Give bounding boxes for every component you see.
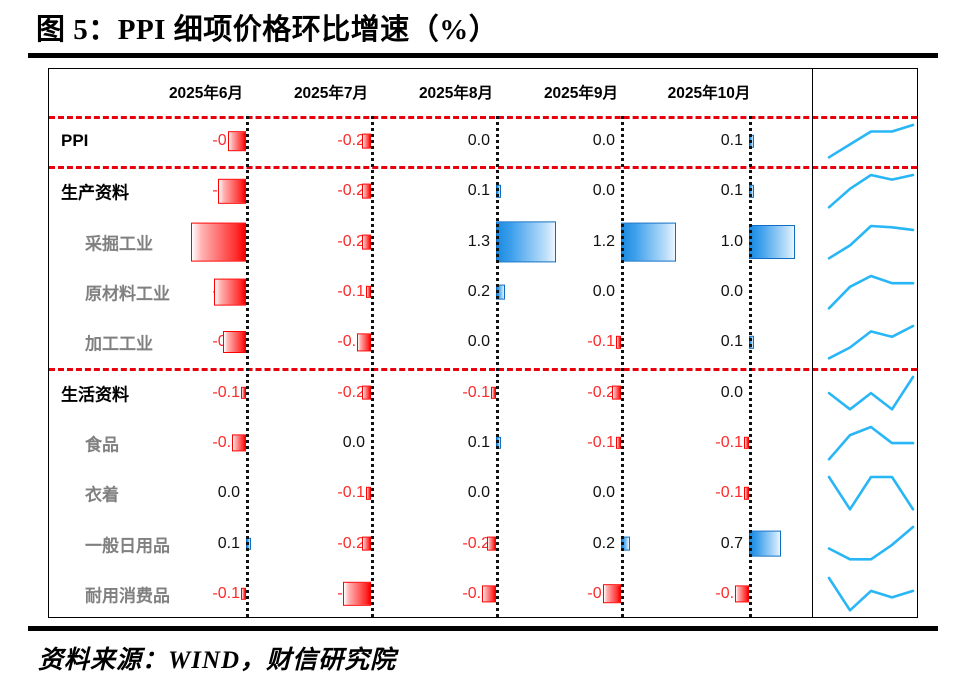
cell-value: -0.1 (669, 484, 743, 502)
cell-value: 0.0 (291, 434, 365, 452)
bar-negative (362, 234, 371, 249)
sparkline (824, 569, 918, 619)
table-row: 衣着0.0-0.10.00.0-0.1 (49, 468, 917, 518)
cell-value: 0.0 (416, 132, 490, 150)
cell-value: 1.3 (416, 233, 490, 251)
source-note: 资料来源：WIND，财信研究院 (38, 640, 396, 676)
cell-value: 0.7 (669, 535, 743, 553)
cell-value: -0.3 (291, 333, 365, 351)
zero-axis-1 (246, 116, 249, 617)
sparkline (824, 217, 918, 267)
table-row: 原材料工业-0.7-0.10.20.00.0 (49, 267, 917, 317)
table-row: 加工工业-0.5-0.30.0-0.10.1 (49, 317, 917, 367)
bar-negative (482, 585, 496, 602)
sparkline (824, 468, 918, 518)
bar-positive (749, 530, 781, 557)
table-row: 生产资料-0.6-0.20.10.00.1 (49, 166, 917, 216)
cell-value: 0.1 (669, 132, 743, 150)
zero-axis-3 (496, 116, 499, 617)
bar-negative (357, 334, 371, 351)
bar-positive (749, 225, 795, 259)
sparkline (824, 317, 918, 367)
cell-value: -0.3 (669, 585, 743, 603)
bar-negative (191, 222, 246, 261)
cell-value: -0.1 (291, 283, 365, 301)
bar-negative (343, 582, 371, 606)
table-row: 采掘工业-1.2-0.21.31.21.0 (49, 217, 917, 267)
cell-value: 0.2 (541, 535, 615, 553)
row-label: 采掘工业 (85, 229, 153, 254)
column-header-3: 2025年8月 (401, 81, 511, 103)
cell-value: 0.0 (541, 132, 615, 150)
table-row: 耐用消费品-0.1-0.6-0.3-0.4-0.3 (49, 569, 917, 619)
row-label: 耐用消费品 (85, 581, 170, 606)
row-label: 原材料工业 (85, 280, 170, 305)
sparkline-column-divider (812, 69, 813, 617)
zero-axis-5 (749, 116, 752, 617)
row-separator (49, 116, 917, 119)
cell-value: -0.1 (541, 333, 615, 351)
bar-negative (612, 385, 621, 400)
cell-value: -0.2 (291, 233, 365, 251)
cell-value: 0.0 (166, 484, 240, 502)
row-label: 食品 (85, 430, 119, 455)
bar-negative (603, 584, 621, 604)
cell-value: 0.0 (541, 182, 615, 200)
cell-value: 0.2 (416, 283, 490, 301)
cell-value: -0.1 (416, 384, 490, 402)
cell-value: -0.1 (166, 585, 240, 603)
cell-value: -0.1 (669, 434, 743, 452)
cell-value: 0.1 (166, 535, 240, 553)
table-row: 生活资料-0.1-0.2-0.1-0.20.0 (49, 368, 917, 418)
cell-value: 1.0 (669, 233, 743, 251)
footer-rule (28, 626, 938, 631)
cell-value: -0.1 (166, 384, 240, 402)
row-separator (49, 166, 917, 169)
cell-value: -0.2 (291, 384, 365, 402)
column-header-4: 2025年9月 (526, 81, 636, 103)
row-label: 生活资料 (61, 380, 129, 405)
column-header-1: 2025年6月 (151, 81, 261, 103)
cell-value: -0.3 (166, 434, 240, 452)
cell-value: -0.1 (541, 434, 615, 452)
row-label: 生产资料 (61, 179, 129, 204)
bar-negative (362, 134, 371, 149)
cell-value: 0.1 (416, 182, 490, 200)
page-title: 图 5：PPI 细项价格环比增速（%） (36, 6, 498, 48)
cell-value: 0.0 (669, 384, 743, 402)
sparkline (824, 116, 918, 166)
bar-negative (218, 179, 246, 203)
sparkline (824, 518, 918, 568)
sparkline (824, 418, 918, 468)
table-row: PPI-0.4-0.20.00.00.1 (49, 116, 917, 166)
bar-positive (621, 222, 676, 261)
title-rule (28, 53, 938, 58)
bar-negative (362, 385, 371, 400)
cell-value: 0.0 (416, 484, 490, 502)
table-row: 食品-0.30.00.1-0.1-0.1 (49, 418, 917, 468)
cell-value: -0.2 (541, 384, 615, 402)
bar-negative (228, 131, 246, 151)
bar-negative (487, 536, 496, 551)
cell-value: -0.2 (291, 132, 365, 150)
bar-negative (223, 331, 246, 353)
cell-value: 0.1 (669, 182, 743, 200)
bar-negative (214, 279, 246, 306)
zero-axis-4 (621, 116, 624, 617)
sparkline (824, 368, 918, 418)
row-label: 衣着 (85, 481, 119, 506)
cell-value: -0.3 (416, 585, 490, 603)
sparkline (824, 267, 918, 317)
cell-value: 0.1 (669, 333, 743, 351)
bar-negative (362, 184, 371, 199)
bar-negative (362, 536, 371, 551)
zero-axis-2 (371, 116, 374, 617)
table-row: 一般日用品0.1-0.2-0.20.20.7 (49, 518, 917, 568)
cell-value: -0.2 (291, 182, 365, 200)
cell-value: 0.0 (669, 283, 743, 301)
row-separator (49, 368, 917, 371)
row-label: 一般日用品 (85, 531, 170, 556)
sparkline (824, 166, 918, 216)
ppi-table: 2025年6月2025年7月2025年8月2025年9月2025年10月 PPI… (48, 68, 918, 618)
column-header-2: 2025年7月 (276, 81, 386, 103)
cell-value: -0.2 (291, 535, 365, 553)
cell-value: 0.0 (541, 283, 615, 301)
cell-value: -0.2 (416, 535, 490, 553)
figure-page: 图 5：PPI 细项价格环比增速（%） 2025年6月2025年7月2025年8… (0, 0, 966, 684)
bar-negative (232, 434, 246, 451)
row-label: PPI (61, 131, 88, 151)
cell-value: 0.0 (541, 484, 615, 502)
table-header-row: 2025年6月2025年7月2025年8月2025年9月2025年10月 (49, 69, 917, 116)
cell-value: -0.1 (291, 484, 365, 502)
column-header-5: 2025年10月 (654, 81, 764, 103)
row-label: 加工工业 (85, 330, 153, 355)
cell-value: 0.1 (416, 434, 490, 452)
bar-negative (735, 585, 749, 602)
cell-value: 1.2 (541, 233, 615, 251)
cell-value: 0.0 (416, 333, 490, 351)
